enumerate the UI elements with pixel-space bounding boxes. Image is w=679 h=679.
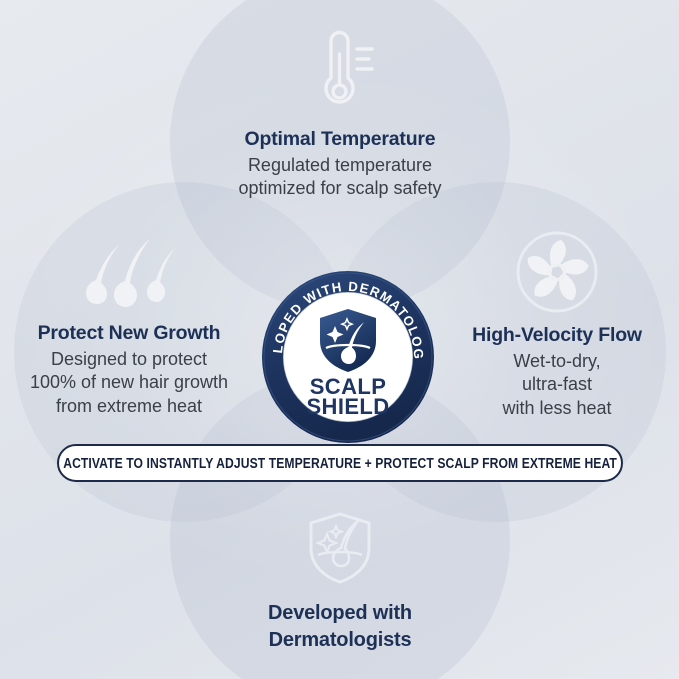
infographic-canvas: Optimal Temperature Regulated temperatur… bbox=[0, 0, 679, 679]
feature-high-velocity-flow: High-Velocity Flow Wet-to-dry, ultra-fas… bbox=[432, 232, 679, 420]
shield-hair-icon-wrap bbox=[215, 512, 465, 586]
feature-title: High-Velocity Flow bbox=[432, 324, 679, 347]
hair-follicles-icon-wrap bbox=[0, 232, 260, 310]
activation-banner: ACTIVATE TO INSTANTLY ADJUST TEMPERATURE… bbox=[57, 444, 623, 482]
feature-protect-new-growth: Protect New Growth Designed to protect 1… bbox=[0, 232, 260, 418]
feature-title: Optimal Temperature bbox=[155, 128, 525, 151]
feature-title: Protect New Growth bbox=[0, 322, 260, 345]
feature-developed-with-dermatologists: Developed with Dermatologists bbox=[215, 512, 465, 657]
feature-body: Designed to protect 100% of new hair gro… bbox=[0, 348, 260, 418]
feature-body: Regulated temperature optimized for scal… bbox=[155, 154, 525, 201]
feature-title: Developed with Dermatologists bbox=[215, 600, 465, 654]
thermometer-icon bbox=[301, 28, 379, 114]
feature-body: Wet-to-dry, ultra-fast with less heat bbox=[432, 350, 679, 420]
activation-banner-text: ACTIVATE TO INSTANTLY ADJUST TEMPERATURE… bbox=[63, 455, 617, 472]
thermometer-icon-wrap bbox=[155, 28, 525, 114]
feature-optimal-temperature: Optimal Temperature Regulated temperatur… bbox=[155, 28, 525, 201]
fan-airflow-icon bbox=[515, 230, 599, 314]
shield-hair-icon bbox=[305, 510, 375, 586]
badge-name-line-2: SHIELD bbox=[306, 394, 389, 419]
fan-airflow-icon-wrap bbox=[432, 232, 679, 314]
hair-follicles-icon bbox=[83, 232, 175, 310]
scalp-shield-seal: DEVELOPED WITH DERMATOLOGISTS STYLIST AP… bbox=[260, 269, 436, 445]
